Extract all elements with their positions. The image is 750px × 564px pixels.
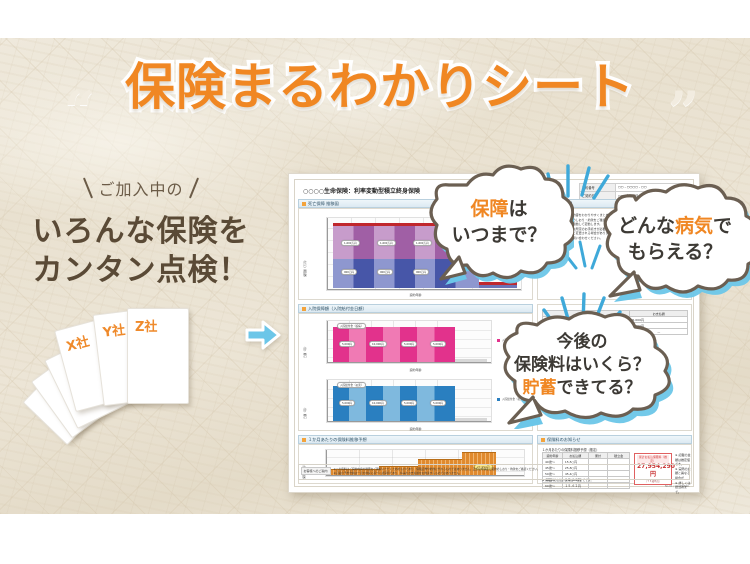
bubble-premium-savings[interactable]: 今後の 保険料はいくら？ 貯蓄できてる？ <box>487 309 677 429</box>
section-bullet-icon <box>302 307 306 311</box>
section-header-premium-detail: 保険料のお知らせ <box>537 435 692 444</box>
quote-open-icon: “ <box>64 84 95 138</box>
chart3-y-title: 日額（円） <box>303 406 307 419</box>
bubble-line-2: 保険料はいくら？ <box>514 354 650 376</box>
chart-hospital-pink: 入院給付金（疾病） 5,000円 10,000円 5,000円 5,000円 1… <box>326 320 492 364</box>
bubble-text: 保障は いつまで？ <box>424 163 574 291</box>
poster-canvas: “ 保険まるわかりシート ” ご加入中の いろんな保険を カンタン点検！ X社 … <box>0 0 750 564</box>
bubble-line-1: 保障は <box>470 197 527 222</box>
left-copy-block: ご加入中の いろんな保険を カンタン点検！ <box>12 176 270 290</box>
headline-block: “ 保険まるわかりシート ” <box>0 46 750 126</box>
document-title: ○○○○生命保険：利率変動型積立終身保険 <box>303 186 420 195</box>
table-cell: １５,６２円 <box>562 483 588 489</box>
section-header-premium-forecast: １か月あたりの保険料推移予想 <box>298 435 533 444</box>
page-title: 保険まるわかりシート <box>95 56 665 118</box>
section-bullet-icon <box>541 438 545 442</box>
bubble-line-3: 貯蓄できてる？ <box>523 377 642 399</box>
bubble-line-2: もらえる？ <box>628 240 722 265</box>
highlight-header: 累計お払込保険料（推定） <box>637 455 669 463</box>
quote-close-icon: ” <box>668 84 699 138</box>
section-title: １か月あたりの保険料推移予想 <box>308 437 367 443</box>
chart2-top-label: 入院給付金（疾病） <box>337 323 366 329</box>
eyebrow-line: ご加入中の <box>12 176 270 200</box>
bubble-line-2: いつまで？ <box>451 223 546 248</box>
paper-label-y: Y社 <box>102 319 127 341</box>
section-title: 入院保障額（入院給付金日額） <box>308 306 367 312</box>
policy-paper-stack: X社 Y社 Z社 <box>34 300 244 450</box>
section-bullet-icon <box>302 202 306 206</box>
chart1-band-label: 1,600万円 <box>377 240 396 246</box>
main-copy-line2: カンタン点検！ <box>12 251 270 290</box>
chart1-x-title: 契約年齢 <box>299 293 532 297</box>
bubble-text: 今後の 保険料はいくら？ 貯蓄できてる？ <box>487 309 677 429</box>
footnote-line: ※この資料はご契約内容の概要をご理解いただくためのものであり、保険証券や約款に代… <box>334 467 540 471</box>
bubble-which-illness[interactable]: どんな病気で もらえる？ <box>592 182 750 304</box>
chart2-band-label: 5,000円 <box>339 341 355 347</box>
chart1-y-title: 保障額（万円） <box>303 259 307 277</box>
chart2-band-label: 5,000円 <box>401 341 417 347</box>
bubble-coverage-period[interactable]: 保障は いつまで？ <box>424 163 574 291</box>
section-bullet-icon <box>302 438 306 442</box>
chart3-band-label: 10,000円 <box>369 400 387 406</box>
footnote-tag: お客様へのご案内 <box>301 467 331 475</box>
chart2-band-label: 5,000円 <box>430 341 446 347</box>
table-cell: 60歳〜 <box>543 483 563 489</box>
section-title: 死亡保障 推移図 <box>308 201 339 207</box>
chart3-top-label: 入院給付金（災害） <box>337 382 366 388</box>
chart2-band-label: 10,000円 <box>369 341 387 347</box>
chart3-band-label: 5,000円 <box>339 400 355 406</box>
table-row: 60歳〜 １５,６２円 <box>543 483 630 489</box>
paper-label-z: Z社 <box>135 316 157 335</box>
chart3-band-label: 5,000円 <box>401 400 417 406</box>
section-title: 保険料のお知らせ <box>547 437 580 443</box>
paper-sheet-z: Z社 <box>127 308 189 404</box>
chart1-band-label: 1,600万円 <box>341 240 360 246</box>
bubble-text: どんな病気で もらえる？ <box>592 182 750 304</box>
eyebrow-text: ご加入中の <box>98 176 183 200</box>
document-corner-note: No.01 / ver.2 of No. <box>665 485 690 488</box>
chart1-band-label: 900万円 <box>341 269 357 275</box>
paper-label-x: X社 <box>64 331 91 355</box>
bubble-line-1: 今後の <box>557 331 608 353</box>
chart1-band-label: 900万円 <box>377 269 393 275</box>
slash-left-icon <box>83 177 93 198</box>
footnote-line: ※記載の予想金額は一定の前提に基づく試算値であり、将来のお支払額をお約束するもの… <box>334 471 540 475</box>
slash-right-icon <box>188 177 198 198</box>
arrow-right-icon <box>245 318 281 352</box>
table-cell <box>608 483 630 489</box>
main-copy: いろんな保険を カンタン点検！ <box>12 212 270 290</box>
document-footnote: お客様へのご案内 ※この資料はご契約内容の概要をご理解いただくためのものであり、… <box>298 464 690 480</box>
table-cell <box>588 483 608 489</box>
chart-hospital-blue: 入院給付金（災害） 5,000円 10,000円 5,000円 5,000円 1… <box>326 379 492 423</box>
chart3-band-label: 5,000円 <box>430 400 446 406</box>
bubble-line-1: どんな病気で <box>618 214 732 239</box>
chart2-y-title: 日額（円） <box>303 345 307 358</box>
main-copy-line1: いろんな保険を <box>12 212 270 251</box>
footnote-body: ※この資料はご契約内容の概要をご理解いただくためのものであり、保険証券や約款に代… <box>334 467 540 475</box>
